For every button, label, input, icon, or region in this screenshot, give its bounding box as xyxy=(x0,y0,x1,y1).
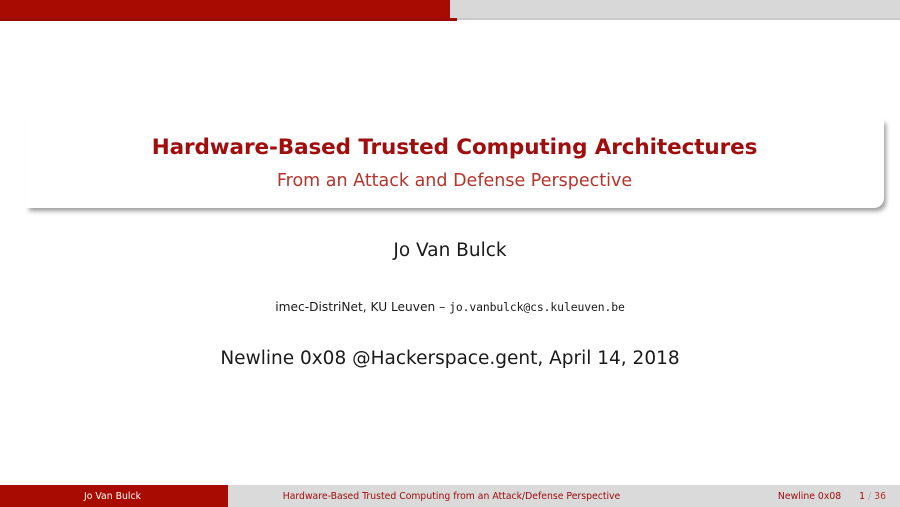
header-bar-gray-rule xyxy=(457,18,900,20)
footer-event-name: Newline 0x08 xyxy=(778,491,841,502)
slide-subtitle: From an Attack and Defense Perspective xyxy=(25,171,884,191)
slide-footer-bar: Jo Van Bulck Hardware-Based Trusted Comp… xyxy=(0,485,900,507)
footer-page-number: 1 / 36 xyxy=(859,491,886,502)
footer-page-current: 1 xyxy=(859,491,865,502)
footer-short-title: Hardware-Based Trusted Computing from an… xyxy=(225,485,675,507)
author-name: Jo Van Bulck xyxy=(0,240,900,262)
title-block: Hardware-Based Trusted Computing Archite… xyxy=(25,118,884,208)
footer-author: Jo Van Bulck xyxy=(0,485,225,507)
header-bar-red-rule xyxy=(0,18,457,21)
footer-page-separator: / xyxy=(868,491,871,502)
title-page-body: Jo Van Bulck imec-DistriNet, KU Leuven –… xyxy=(0,240,900,370)
institute-line: imec-DistriNet, KU Leuven – jo.vanbulck@… xyxy=(0,300,900,315)
footer-page-total: 36 xyxy=(874,491,886,502)
institute-email[interactable]: jo.vanbulck@cs.kuleuven.be xyxy=(449,300,625,314)
event-date-line: Newline 0x08 @Hackerspace.gent, April 14… xyxy=(0,348,900,370)
institute-affiliation: imec-DistriNet, KU Leuven – xyxy=(275,300,449,314)
slide-title: Hardware-Based Trusted Computing Archite… xyxy=(25,136,884,161)
header-bar-red-segment xyxy=(0,0,450,18)
footer-right-section: Newline 0x08 1 / 36 xyxy=(675,485,900,507)
slide-header-bar xyxy=(0,0,900,22)
